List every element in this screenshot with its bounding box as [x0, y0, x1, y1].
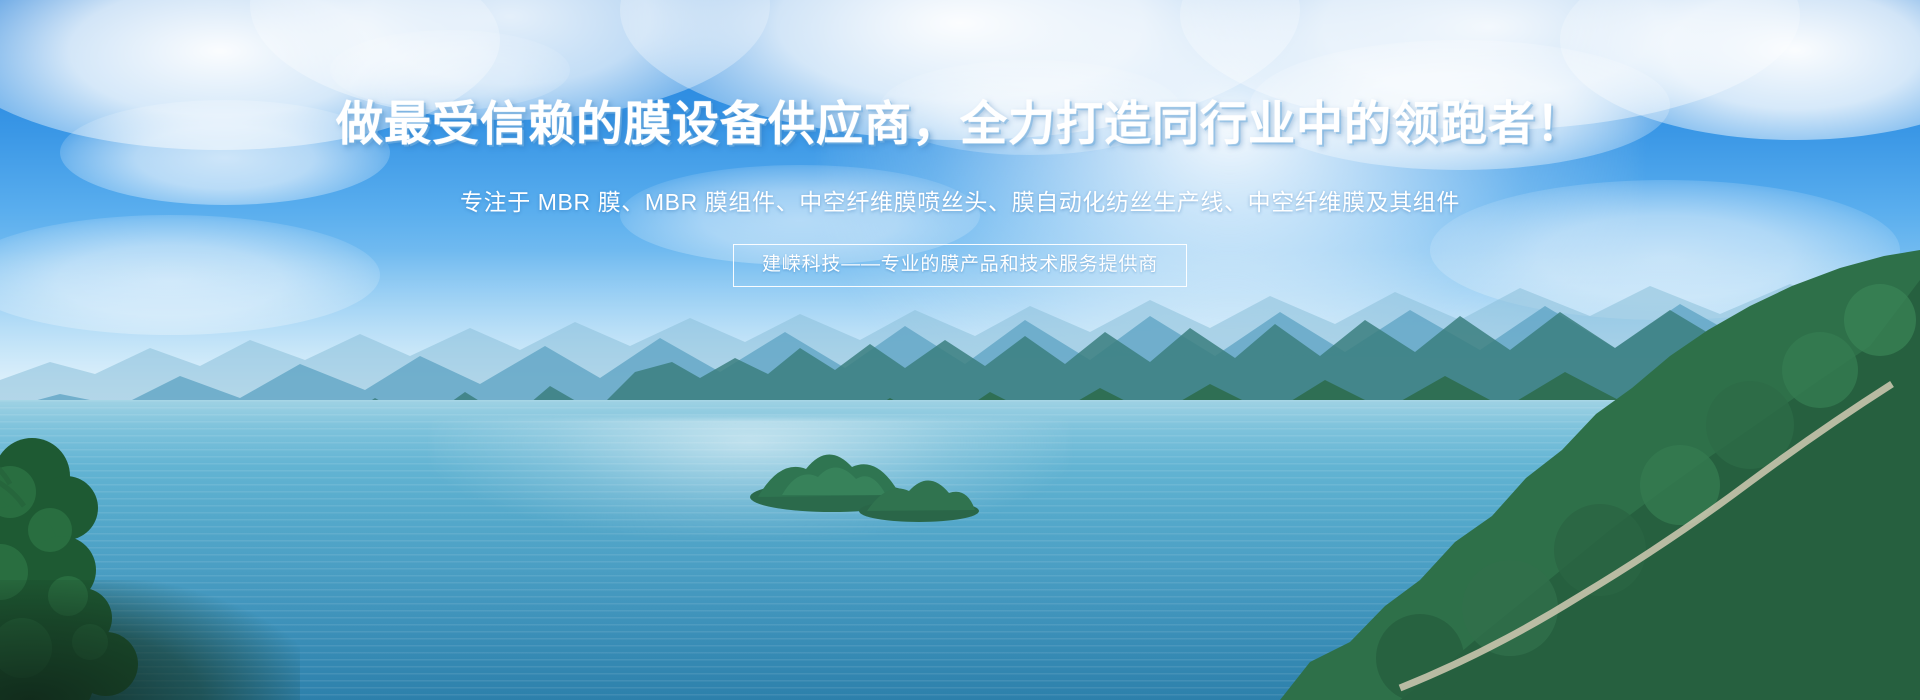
banner-tagline-text: 建嵘科技——专业的膜产品和技术服务提供商	[762, 254, 1158, 275]
banner-tagline-box: 建嵘科技——专业的膜产品和技术服务提供商	[733, 244, 1187, 287]
banner-text-overlay: 做最受信赖的膜设备供应商，全力打造同行业中的领跑者！ 专注于 MBR 膜、MBR…	[0, 0, 1920, 700]
hero-banner: 做最受信赖的膜设备供应商，全力打造同行业中的领跑者！ 专注于 MBR 膜、MBR…	[0, 0, 1920, 700]
banner-headline: 做最受信赖的膜设备供应商，全力打造同行业中的领跑者！	[0, 100, 1920, 147]
banner-subtitle: 专注于 MBR 膜、MBR 膜组件、中空纤维膜喷丝头、膜自动化纺丝生产线、中空纤…	[0, 186, 1920, 218]
